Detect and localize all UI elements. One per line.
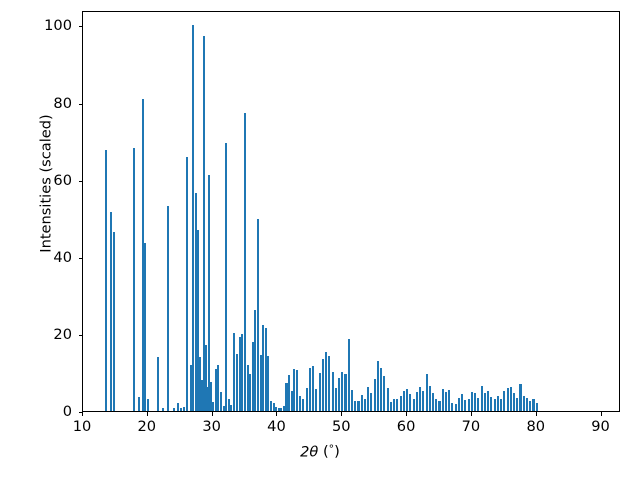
chart-bar xyxy=(364,399,366,411)
chart-bar xyxy=(105,150,107,411)
chart-bar xyxy=(225,143,227,411)
chart-bar xyxy=(338,378,340,411)
chart-bar xyxy=(377,361,379,411)
chart-bar xyxy=(519,384,521,411)
chart-bar xyxy=(208,175,210,411)
chart-bar xyxy=(503,391,505,411)
x-tick-mark xyxy=(341,412,342,416)
y-tick-mark xyxy=(79,26,83,27)
chart-bar xyxy=(306,388,308,411)
x-tick-label: 90 xyxy=(571,418,631,435)
x-tick-label: 30 xyxy=(182,418,242,435)
chart-bar xyxy=(157,357,159,411)
chart-bar xyxy=(344,374,346,411)
chart-bar xyxy=(341,372,343,411)
y-tick-label: 40 xyxy=(0,249,72,266)
chart-bar xyxy=(409,394,411,411)
chart-bar xyxy=(455,404,457,411)
chart-bar xyxy=(180,408,182,411)
y-tick-mark xyxy=(79,258,83,259)
chart-bar xyxy=(435,399,437,411)
chart-bar xyxy=(458,398,460,411)
chart-bar xyxy=(332,372,334,411)
x-tick-mark xyxy=(276,412,277,416)
chart-bar xyxy=(309,368,311,411)
chart-bar xyxy=(177,403,179,411)
chart-bar xyxy=(183,407,185,411)
chart-bar xyxy=(432,393,434,411)
chart-bar xyxy=(419,387,421,411)
chart-bar xyxy=(167,206,169,412)
y-tick-label: 0 xyxy=(0,403,72,420)
y-tick-label: 60 xyxy=(0,172,72,189)
x-tick-label: 80 xyxy=(506,418,566,435)
chart-bar xyxy=(186,157,188,411)
x-axis-label: 2θ (°) xyxy=(0,443,640,460)
chart-bar xyxy=(400,396,402,411)
chart-bar xyxy=(500,399,502,411)
chart-bar xyxy=(357,401,359,411)
chart-bar xyxy=(233,333,235,411)
chart-bar xyxy=(351,390,353,411)
chart-bar xyxy=(380,368,382,411)
x-tick-mark xyxy=(147,412,148,416)
x-tick-mark xyxy=(601,412,602,416)
chart-bar xyxy=(319,373,321,411)
chart-bar xyxy=(173,408,175,411)
chart-bar xyxy=(477,398,479,411)
chart-bar xyxy=(138,397,140,411)
chart-bar xyxy=(387,388,389,411)
x-tick-label: 60 xyxy=(376,418,436,435)
x-axis-label-unit: (°) xyxy=(323,443,340,460)
chart-bar xyxy=(370,393,372,411)
chart-bar xyxy=(113,232,115,411)
chart-bar xyxy=(464,400,466,411)
chart-bar xyxy=(390,402,392,411)
chart-bar xyxy=(299,396,301,411)
chart-bar xyxy=(144,243,146,411)
chart-bar xyxy=(110,212,112,411)
chart-bar xyxy=(481,386,483,411)
figure-canvas: Intensities (scaled) 1020304050607080900… xyxy=(0,0,640,480)
chart-bar xyxy=(438,401,440,411)
x-tick-label: 10 xyxy=(52,418,112,435)
bars-container xyxy=(83,12,619,411)
chart-bar xyxy=(422,391,424,411)
chart-bar xyxy=(325,352,327,411)
chart-bar xyxy=(461,394,463,411)
x-axis-label-text: 2θ xyxy=(300,443,318,460)
chart-bar xyxy=(348,339,350,411)
chart-bar xyxy=(536,403,538,411)
chart-bar xyxy=(526,398,528,411)
y-tick-mark xyxy=(79,412,83,413)
chart-bar xyxy=(162,408,164,411)
chart-bar xyxy=(442,389,444,411)
chart-bar xyxy=(302,399,304,411)
chart-bar xyxy=(510,387,512,411)
x-tick-mark xyxy=(212,412,213,416)
x-tick-label: 50 xyxy=(311,418,371,435)
chart-bar xyxy=(133,148,135,411)
plot-axes xyxy=(82,11,620,412)
chart-bar xyxy=(445,392,447,411)
chart-bar xyxy=(312,366,314,411)
chart-bar xyxy=(403,391,405,411)
chart-bar xyxy=(471,392,473,411)
chart-bar xyxy=(296,370,298,411)
chart-bar xyxy=(487,391,489,411)
chart-bar xyxy=(451,403,453,411)
chart-bar xyxy=(396,399,398,411)
chart-bar xyxy=(448,390,450,411)
x-tick-label: 40 xyxy=(246,418,306,435)
x-tick-mark xyxy=(82,412,83,416)
chart-bar xyxy=(516,398,518,411)
chart-bar xyxy=(468,399,470,411)
chart-bar xyxy=(328,356,330,411)
chart-bar xyxy=(474,393,476,411)
y-tick-label: 80 xyxy=(0,95,72,112)
y-tick-mark xyxy=(79,104,83,105)
chart-bar xyxy=(335,388,337,411)
chart-bar xyxy=(354,401,356,411)
chart-bar xyxy=(322,359,324,411)
chart-bar xyxy=(429,386,431,411)
y-tick-mark xyxy=(79,335,83,336)
chart-bar xyxy=(523,396,525,411)
chart-bar xyxy=(315,389,317,411)
x-tick-mark xyxy=(471,412,472,416)
y-tick-label: 20 xyxy=(0,326,72,343)
chart-bar xyxy=(494,399,496,411)
chart-bar xyxy=(361,395,363,411)
chart-bar xyxy=(406,389,408,411)
chart-bar xyxy=(507,388,509,411)
chart-bar xyxy=(532,399,534,411)
chart-bar xyxy=(413,399,415,411)
y-tick-label: 100 xyxy=(0,17,72,34)
x-tick-label: 20 xyxy=(117,418,177,435)
chart-bar xyxy=(513,393,515,411)
chart-bar xyxy=(374,379,376,411)
chart-bar xyxy=(426,374,428,411)
chart-bar xyxy=(147,399,149,411)
chart-bar xyxy=(497,396,499,411)
chart-bar xyxy=(484,393,486,411)
x-tick-label: 70 xyxy=(441,418,501,435)
x-tick-mark xyxy=(536,412,537,416)
chart-bar xyxy=(383,376,385,411)
chart-bar xyxy=(367,387,369,411)
chart-bar xyxy=(529,401,531,411)
chart-bar xyxy=(393,399,395,411)
y-tick-mark xyxy=(79,181,83,182)
chart-bar xyxy=(416,392,418,411)
chart-bar xyxy=(490,397,492,411)
x-tick-mark xyxy=(406,412,407,416)
